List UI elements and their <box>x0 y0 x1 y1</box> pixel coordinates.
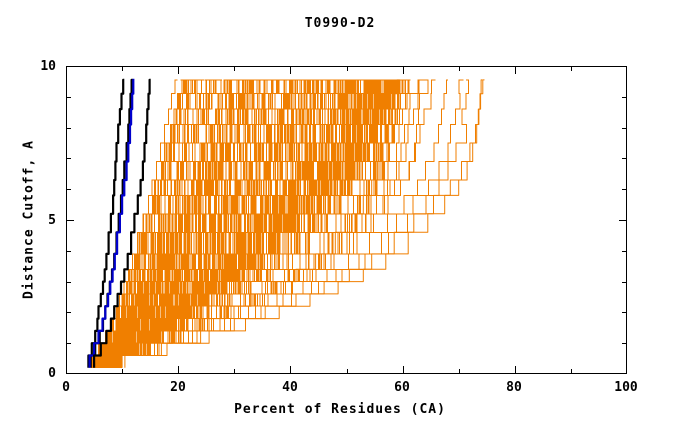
chart-title: T0990-D2 <box>0 16 680 31</box>
x-tick-label-60: 60 <box>372 380 432 395</box>
y-tick-label-0: 0 <box>16 366 56 381</box>
y-tick-label-5: 5 <box>16 213 56 228</box>
x-tick-label-40: 40 <box>260 380 320 395</box>
y-tick-label-10: 10 <box>16 59 56 74</box>
x-tick-label-20: 20 <box>148 380 208 395</box>
x-tick-label-80: 80 <box>484 380 544 395</box>
plot-area <box>66 66 627 374</box>
chart-root: T0990-D2 Distance Cutoff, A Percent of R… <box>0 0 680 440</box>
x-tick-label-100: 100 <box>596 380 656 395</box>
data-curves-layer <box>88 80 484 368</box>
x-tick-label-0: 0 <box>36 380 96 395</box>
plot-canvas <box>66 66 627 374</box>
x-axis-label: Percent of Residues (CA) <box>0 402 680 417</box>
